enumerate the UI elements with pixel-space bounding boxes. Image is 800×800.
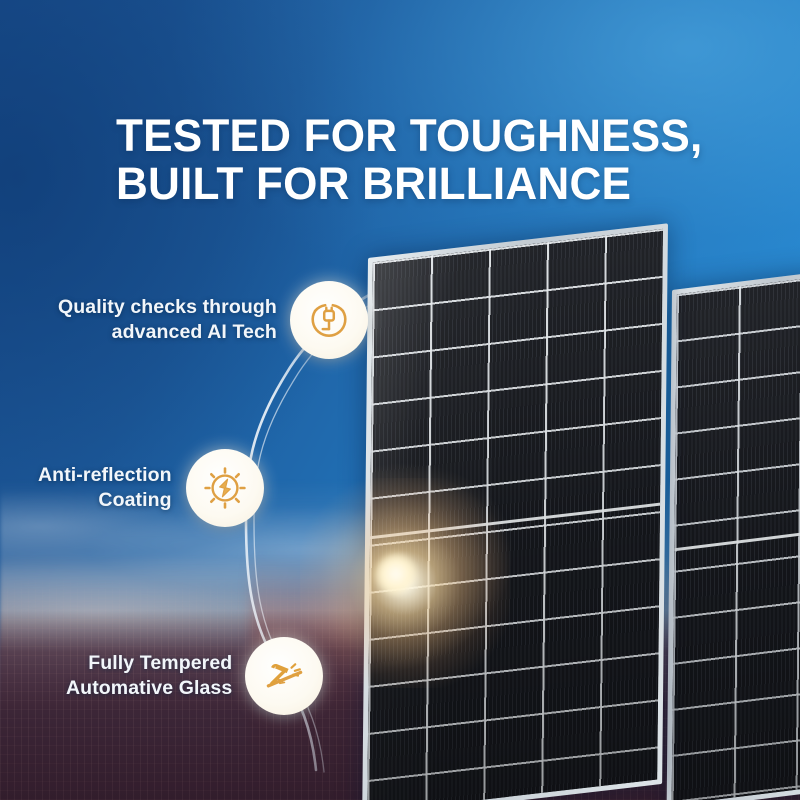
headline-line-2: BUILT FOR BRILLIANCE: [116, 160, 704, 208]
feature-label-quality-checks: Quality checks through advanced AI Tech: [58, 295, 277, 344]
promotional-poster: TESTED FOR TOUGHNESS, BUILT FOR BRILLIAN…: [0, 0, 800, 800]
sun-flare-core: [374, 552, 418, 596]
headline-line-1: TESTED FOR TOUGHNESS,: [116, 112, 704, 160]
hammer-glass-icon: [259, 651, 309, 701]
feature-badge-anti-reflection: [186, 449, 264, 527]
feature-label-line-2: Coating: [98, 489, 171, 511]
feature-label-anti-reflection: Anti-reflection Coating: [38, 463, 172, 512]
feature-label-line-2: advanced AI Tech: [112, 321, 277, 343]
plug-in-circle-icon: [306, 297, 352, 343]
feature-label-line-1: Anti-reflection: [38, 464, 172, 486]
feature-quality-checks: Quality checks through advanced AI Tech: [58, 281, 368, 359]
page-title: TESTED FOR TOUGHNESS, BUILT FOR BRILLIAN…: [116, 112, 704, 208]
feature-tempered-glass: Fully Tempered Automative Glass: [66, 637, 323, 715]
feature-badge-tempered-glass: [245, 637, 323, 715]
feature-label-line-2: Automative Glass: [66, 677, 232, 699]
feature-anti-reflection: Anti-reflection Coating: [38, 449, 264, 527]
feature-badge-quality-checks: [290, 281, 368, 359]
feature-label-tempered-glass: Fully Tempered Automative Glass: [66, 651, 232, 700]
feature-label-line-1: Quality checks through: [58, 296, 277, 318]
sun-sparkle-icon: [201, 464, 249, 512]
feature-label-line-1: Fully Tempered: [88, 652, 232, 674]
